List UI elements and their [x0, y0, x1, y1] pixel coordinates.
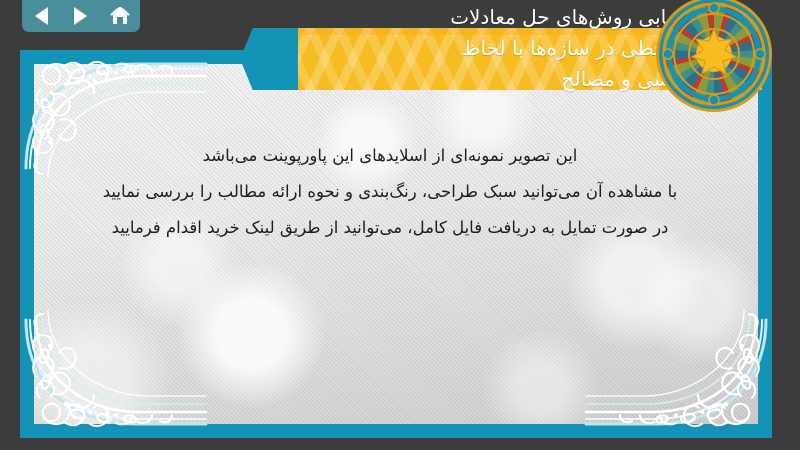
body-line-2: با مشاهده آن می‌توانید سبک طراحی، رنگ‌بن…: [40, 174, 740, 210]
triangle-left-icon: [35, 7, 48, 25]
body-line-1: این تصویر نمونه‌ای از اسلایدهای این پاور…: [40, 138, 740, 174]
body-line-3: در صورت تمایل به دریافت فایل کامل، می‌تو…: [40, 210, 740, 246]
forward-button[interactable]: [67, 4, 95, 28]
back-button[interactable]: [28, 4, 56, 28]
home-button[interactable]: [106, 4, 134, 28]
persian-mandala-medallion-icon: [662, 2, 766, 106]
slide-body-text: این تصویر نمونه‌ای از اسلایدهای این پاور…: [40, 138, 740, 246]
triangle-right-icon: [74, 7, 87, 25]
slide-viewer: این تصویر نمونه‌ای از اسلایدهای این پاور…: [0, 0, 800, 450]
home-icon: [109, 6, 131, 26]
navigation-bar: [22, 0, 140, 32]
